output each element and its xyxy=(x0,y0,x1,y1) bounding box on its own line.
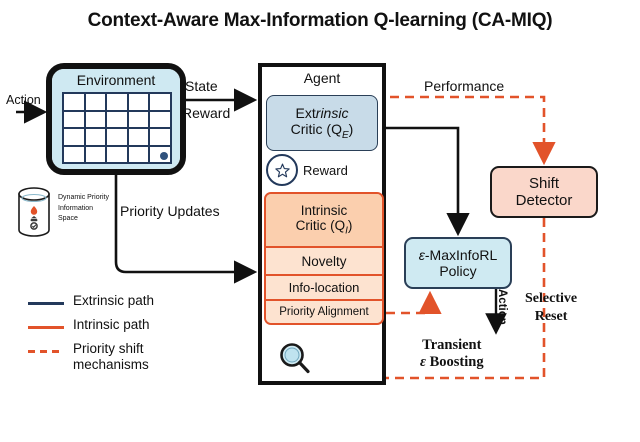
label-priority-updates: Priority Updates xyxy=(120,203,220,219)
label-selective-reset-line2: Reset xyxy=(525,308,577,326)
legend-label-extrinsic: Extrinsic path xyxy=(73,293,154,309)
database-label: Dynamic Priority Information Space xyxy=(58,193,124,225)
label-reward: Reward xyxy=(182,105,230,121)
grid-cell xyxy=(85,128,107,146)
reward-indicator: Reward xyxy=(266,155,378,185)
grid-cell xyxy=(128,146,150,164)
grid-cell xyxy=(128,111,150,129)
label-state: State xyxy=(185,78,218,94)
grid-cell xyxy=(63,111,85,129)
grid-cell xyxy=(63,93,85,111)
grid-cell xyxy=(85,146,107,164)
label-transient-eps-boosting: Transient ε Boosting xyxy=(420,337,484,372)
star-icon xyxy=(266,154,298,186)
label-transient-line2: ε Boosting xyxy=(420,354,484,371)
intrinsic-critic-stack: Intrinsic Critic (QI) Novelty Info-locat… xyxy=(264,192,384,325)
grid-cell xyxy=(63,128,85,146)
database-icon xyxy=(16,186,52,238)
legend-swatch-extrinsic xyxy=(28,296,64,310)
grid-cell xyxy=(128,93,150,111)
grid-cell xyxy=(85,93,107,111)
edge-transient-eps-boosting xyxy=(386,296,430,313)
intrinsic-critic-line1: Intrinsic xyxy=(301,203,348,219)
extrinsic-critic-suffix: rinsic xyxy=(316,105,349,121)
edge-env-to-agent-priority-updates xyxy=(116,175,252,272)
edge-performance-to-shift-detector xyxy=(390,97,544,160)
grid-cell xyxy=(149,93,171,111)
grid-cell xyxy=(85,111,107,129)
legend-item-intrinsic-path: Intrinsic path xyxy=(28,317,218,334)
label-transient-line1: Transient xyxy=(420,337,484,354)
database-label-line1: Dynamic Priority xyxy=(58,193,124,204)
extrinsic-critic-subscript: E xyxy=(342,130,349,141)
label-action-in: Action xyxy=(6,93,41,107)
extrinsic-critic-prefix: Ext xyxy=(296,105,316,121)
grid-cell xyxy=(106,93,128,111)
database-label-line2: Information xyxy=(58,204,124,215)
shift-detector-box: Shift Detector xyxy=(490,166,598,218)
intrinsic-component-info-location: Info-location xyxy=(266,274,382,299)
grid-cell xyxy=(106,146,128,164)
agent-position-dot xyxy=(160,152,168,160)
intrinsic-critic-line2: Critic (QI) xyxy=(296,218,353,237)
database-label-line3: Space xyxy=(58,214,124,225)
grid-cell xyxy=(106,128,128,146)
grid-cell xyxy=(149,146,171,164)
page-title: Context-Aware Max-Information Q-learning… xyxy=(0,10,640,32)
legend-label-priority-shift: Priority shift mechanisms xyxy=(73,341,218,373)
policy-line1: ε-MaxInfoRL xyxy=(419,247,498,263)
grid-cell xyxy=(149,128,171,146)
extrinsic-critic-line2: Critic (QE) xyxy=(291,121,354,141)
shift-detector-line1: Shift xyxy=(529,175,559,192)
label-selective-reset-line1: Selective xyxy=(525,290,577,308)
legend-label-intrinsic: Intrinsic path xyxy=(73,317,150,333)
grid-cell xyxy=(149,111,171,129)
label-performance: Performance xyxy=(424,78,504,94)
environment-label: Environment xyxy=(52,72,180,88)
diagram-canvas: Context-Aware Max-Information Q-learning… xyxy=(0,0,640,442)
label-selective-reset: Selective Reset xyxy=(525,290,577,325)
reward-label: Reward xyxy=(303,163,348,178)
grid-cell xyxy=(106,111,128,129)
label-action-out: Action xyxy=(496,289,508,325)
environment-gridworld xyxy=(62,92,172,164)
legend: Extrinsic path Intrinsic path Priority s… xyxy=(28,293,218,380)
grid-cell xyxy=(128,128,150,146)
legend-item-extrinsic-path: Extrinsic path xyxy=(28,293,218,310)
intrinsic-component-priority-alignment: Priority Alignment xyxy=(266,299,382,323)
grid-cell xyxy=(63,146,85,164)
legend-swatch-intrinsic xyxy=(28,320,64,334)
extrinsic-critic-line1: Extrinsic xyxy=(296,105,349,121)
legend-swatch-priority-shift xyxy=(28,344,64,358)
legend-item-priority-shift: Priority shift mechanisms xyxy=(28,341,218,373)
edge-agent-to-policy xyxy=(386,128,458,231)
policy-box: ε-MaxInfoRL Policy xyxy=(404,237,512,289)
extrinsic-critic-box: Extrinsic Critic (QE) xyxy=(266,95,378,151)
agent-label: Agent xyxy=(258,70,386,86)
intrinsic-critic-box: Intrinsic Critic (QI) xyxy=(266,194,382,246)
magnifying-glass-icon xyxy=(277,341,313,377)
intrinsic-component-novelty: Novelty xyxy=(266,246,382,274)
shift-detector-line2: Detector xyxy=(516,192,573,209)
policy-line2: Policy xyxy=(439,263,476,279)
